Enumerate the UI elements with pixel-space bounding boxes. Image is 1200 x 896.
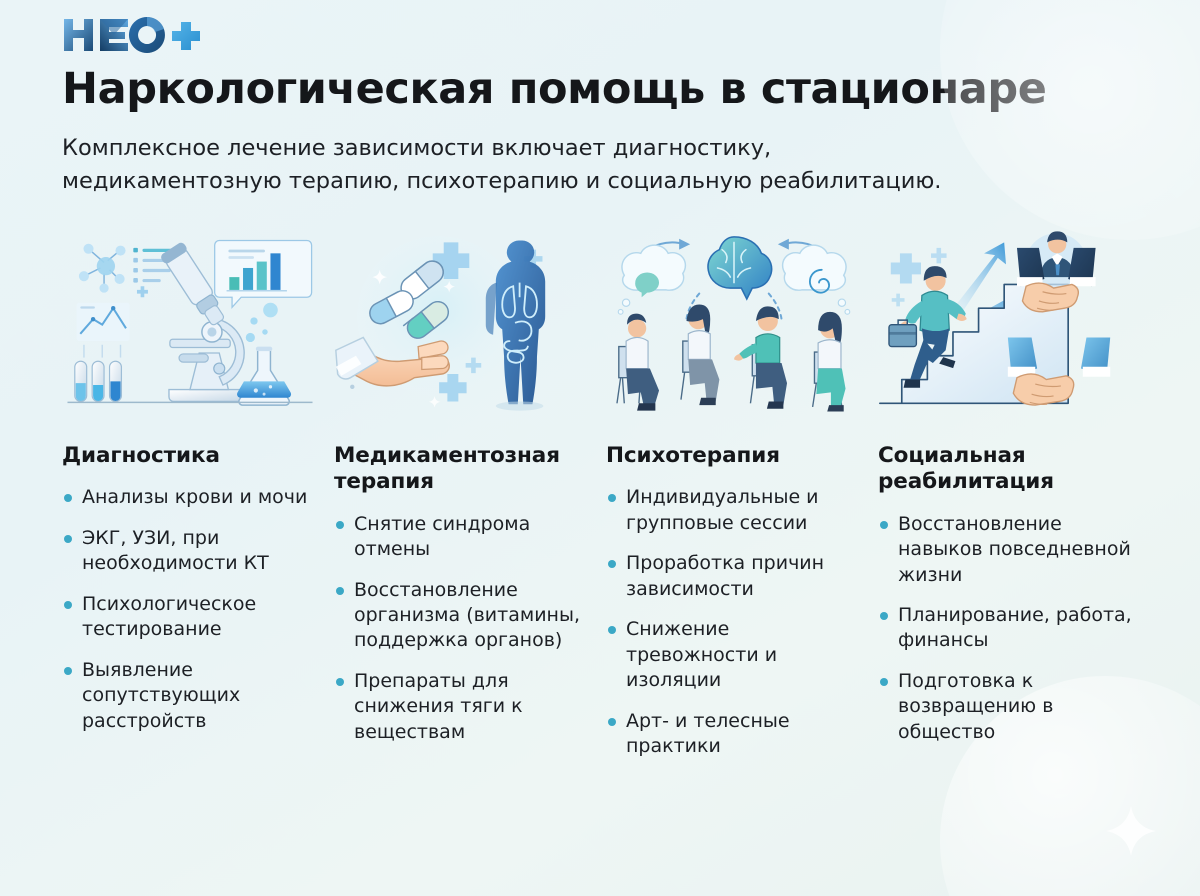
list-item: Восстановление навыков повседневной жизн… xyxy=(878,512,1134,588)
group-therapy-brain-illustration xyxy=(606,221,862,421)
list-item: Выявление сопутствующих расстройств xyxy=(62,658,318,734)
list-item: Планирование, работа, финансы xyxy=(878,603,1134,654)
column-title-diagnostics: Диагностика xyxy=(62,443,318,469)
stairs-handshake-illustration xyxy=(878,221,1134,421)
column-medication: Медикаментозная терапия Снятие синдрома … xyxy=(334,221,596,745)
column-title-social-rehab: Социальная реабилитация xyxy=(878,443,1134,495)
column-title-psychotherapy: Психотерапия xyxy=(606,443,862,469)
seated-person-icon xyxy=(734,307,787,409)
bullet-list-psychotherapy: Индивидуальные и групповые сессии Прораб… xyxy=(606,485,862,759)
list-item: Снижение тревожности и изоляции xyxy=(606,617,862,693)
microscope-lab-illustration xyxy=(62,221,318,421)
page-subtitle: Комплексное лечение зависимости включает… xyxy=(62,132,942,197)
list-item: Препараты для снижения тяги к веществам xyxy=(334,669,590,745)
brand-logo xyxy=(62,14,1140,56)
column-title-medication: Медикаментозная терапия xyxy=(334,443,590,495)
list-item: Проработка причин зависимости xyxy=(606,551,862,602)
bullet-list-medication: Снятие синдрома отмены Восстановление ор… xyxy=(334,512,590,746)
columns-container: Диагностика Анализы крови и мочи ЭКГ, УЗ… xyxy=(62,221,1140,759)
list-item: Восстановление организма (витамины, подд… xyxy=(334,578,590,654)
list-item: Арт- и телесные практики xyxy=(606,709,862,760)
flask-icon xyxy=(237,347,291,406)
list-item: Подготовка к возвращению в общество xyxy=(878,669,1134,745)
list-item: Снятие синдрома отмены xyxy=(334,512,590,563)
sparkle-icon xyxy=(1104,804,1158,858)
page-title: Наркологическая помощь в стационаре xyxy=(62,66,1140,112)
list-item: ЭКГ, УЗИ, при необходимости КТ xyxy=(62,526,318,577)
test-tubes-icon xyxy=(75,361,122,401)
handshake-icon xyxy=(1017,232,1096,312)
list-item: Психологическое тестирование xyxy=(62,592,318,643)
bar-chart-bubble-icon xyxy=(215,241,312,308)
infographic-page: Наркологическая помощь в стационаре Комп… xyxy=(0,0,1200,896)
bubbles-icon xyxy=(246,303,278,342)
seated-person-icon xyxy=(686,305,719,406)
hand-pills-body-illustration xyxy=(334,221,590,421)
bullet-list-social-rehab: Восстановление навыков повседневной жизн… xyxy=(878,512,1134,746)
plus-icon xyxy=(137,286,148,297)
thought-bubble-icon xyxy=(783,245,850,314)
column-social-rehab: Социальная реабилитация Восстановление н… xyxy=(878,221,1140,745)
column-psychotherapy: Психотерапия Индивидуальные и групповые … xyxy=(606,221,868,759)
line-chart-icon xyxy=(77,303,130,358)
column-diagnostics: Диагностика Анализы крови и мочи ЭКГ, УЗ… xyxy=(62,221,324,734)
brain-icon xyxy=(708,237,772,299)
bullet-list-diagnostics: Анализы крови и мочи ЭКГ, УЗИ, при необх… xyxy=(62,485,318,734)
seated-person-icon xyxy=(626,314,659,411)
list-item: Анализы крови и мочи xyxy=(62,485,318,510)
thought-bubble-icon xyxy=(618,245,685,314)
seated-person-icon xyxy=(816,312,845,412)
neo-plus-logo-icon xyxy=(62,15,202,55)
list-item: Индивидуальные и групповые сессии xyxy=(606,485,862,536)
